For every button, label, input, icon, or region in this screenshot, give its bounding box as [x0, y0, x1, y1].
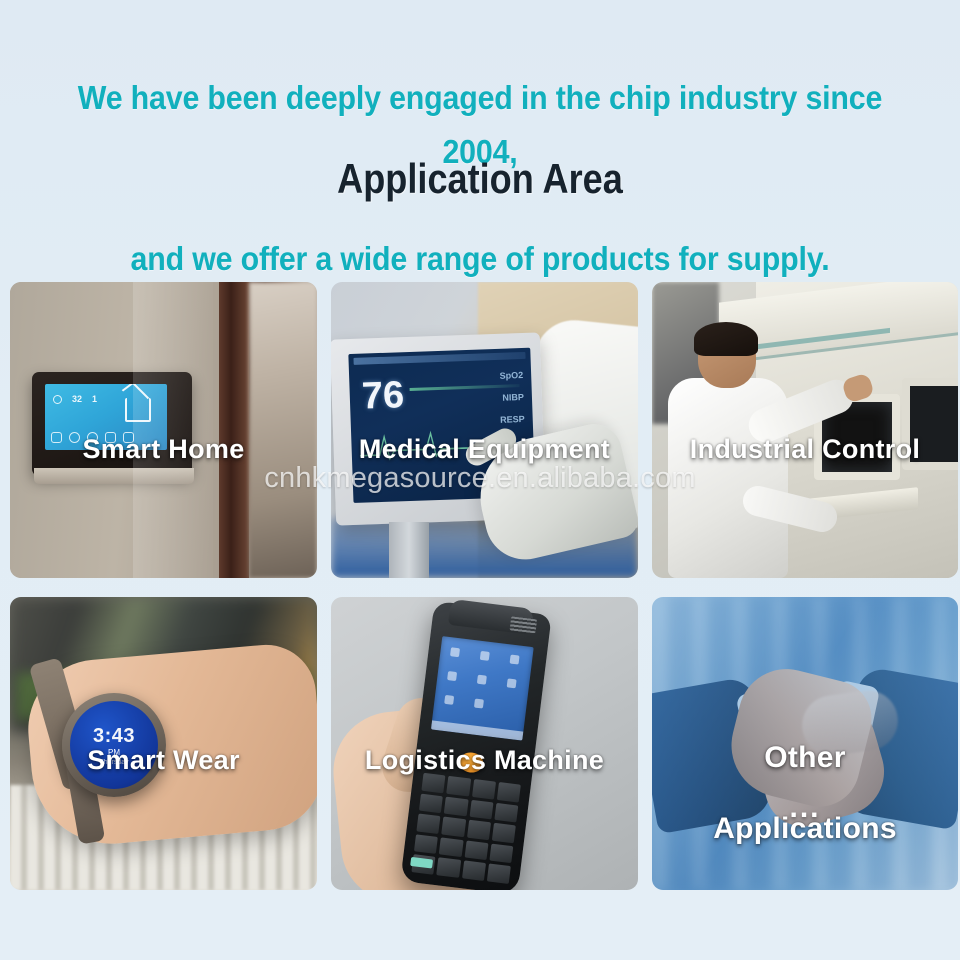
- desktop-icon-5: [477, 675, 487, 685]
- key[interactable]: [416, 814, 440, 834]
- section-title: Application Area: [67, 155, 893, 203]
- key[interactable]: [494, 802, 518, 822]
- card-label-logistics-machine: Logistics Machine: [331, 745, 638, 775]
- speaker-grille-icon: [510, 616, 538, 633]
- application-card-medical-equipment[interactable]: 76 SpO2 NIBP RESP: [331, 282, 638, 578]
- key[interactable]: [487, 864, 511, 884]
- panel-temp: 32: [72, 394, 82, 404]
- key[interactable]: [439, 837, 463, 857]
- technician-hair: [694, 322, 758, 356]
- terminal-taskbar: [431, 720, 523, 740]
- key[interactable]: [444, 796, 468, 816]
- key[interactable]: [419, 793, 443, 813]
- vital-label-3: RESP: [500, 414, 525, 425]
- desktop-icon-3: [510, 655, 520, 665]
- key[interactable]: [414, 834, 438, 854]
- vital-labels: SpO2 NIBP RESP: [498, 370, 524, 425]
- application-card-logistics-machine[interactable]: Logistics Machine: [331, 597, 638, 890]
- smart-home-scene: 32 1: [10, 282, 317, 578]
- weather-icon: [53, 395, 62, 404]
- key[interactable]: [464, 840, 488, 860]
- desktop-icon-7: [444, 695, 454, 705]
- panel-widget-row: 32 1: [53, 394, 97, 404]
- desktop-icon-8: [474, 699, 484, 709]
- key[interactable]: [497, 782, 521, 802]
- card-label-medical-equipment: Medical Equipment: [331, 434, 638, 464]
- application-card-smart-wear[interactable]: 3:43 PM Thursday Smart Wear: [10, 597, 317, 890]
- other-label-line-1: Other: [652, 740, 958, 775]
- desktop-icon-4: [447, 671, 457, 681]
- key[interactable]: [467, 820, 491, 840]
- key[interactable]: [436, 858, 460, 878]
- vital-label-1: SpO2: [499, 370, 523, 381]
- card-label-ellipsis: ...: [652, 791, 958, 825]
- panel-sill: [34, 468, 194, 484]
- key[interactable]: [421, 773, 445, 793]
- application-card-other-applications[interactable]: Other Applications ...: [652, 597, 958, 890]
- headline-line-2: and we offer a wide range of products fo…: [38, 232, 921, 285]
- application-area-banner: We have been deeply engaged in the chip …: [0, 0, 960, 960]
- key[interactable]: [492, 823, 516, 843]
- vital-label-2: NIBP: [502, 392, 524, 403]
- desktop-icon-1: [450, 647, 460, 657]
- smart-wear-scene: 3:43 PM Thursday: [10, 597, 317, 890]
- card-label-smart-home: Smart Home: [10, 434, 317, 464]
- home-icon: [125, 398, 151, 422]
- vital-value: 76: [361, 376, 405, 415]
- card-label-industrial-control: Industrial Control: [652, 434, 958, 464]
- key[interactable]: [447, 776, 471, 796]
- key[interactable]: [469, 799, 493, 819]
- application-card-smart-home[interactable]: 32 1 S: [10, 282, 317, 578]
- monitor-topbar: [353, 352, 525, 365]
- panel-count: 1: [92, 394, 97, 404]
- medical-scene: 76 SpO2 NIBP RESP: [331, 282, 638, 578]
- terminal-screen: [431, 636, 534, 741]
- key[interactable]: [472, 779, 496, 799]
- background-room: [249, 282, 317, 578]
- logistics-scene: [331, 597, 638, 890]
- card-label-smart-wear: Smart Wear: [10, 745, 317, 775]
- industrial-scene: [652, 282, 958, 578]
- desktop-icon-6: [507, 678, 517, 688]
- key[interactable]: [441, 817, 465, 837]
- application-card-industrial-control[interactable]: Industrial Control: [652, 282, 958, 578]
- key[interactable]: [462, 861, 486, 881]
- monitor-stand: [389, 522, 429, 578]
- desktop-icon-2: [480, 651, 490, 661]
- door-frame: [219, 282, 250, 578]
- key[interactable]: [489, 843, 513, 863]
- application-card-grid: 32 1 S: [10, 282, 956, 890]
